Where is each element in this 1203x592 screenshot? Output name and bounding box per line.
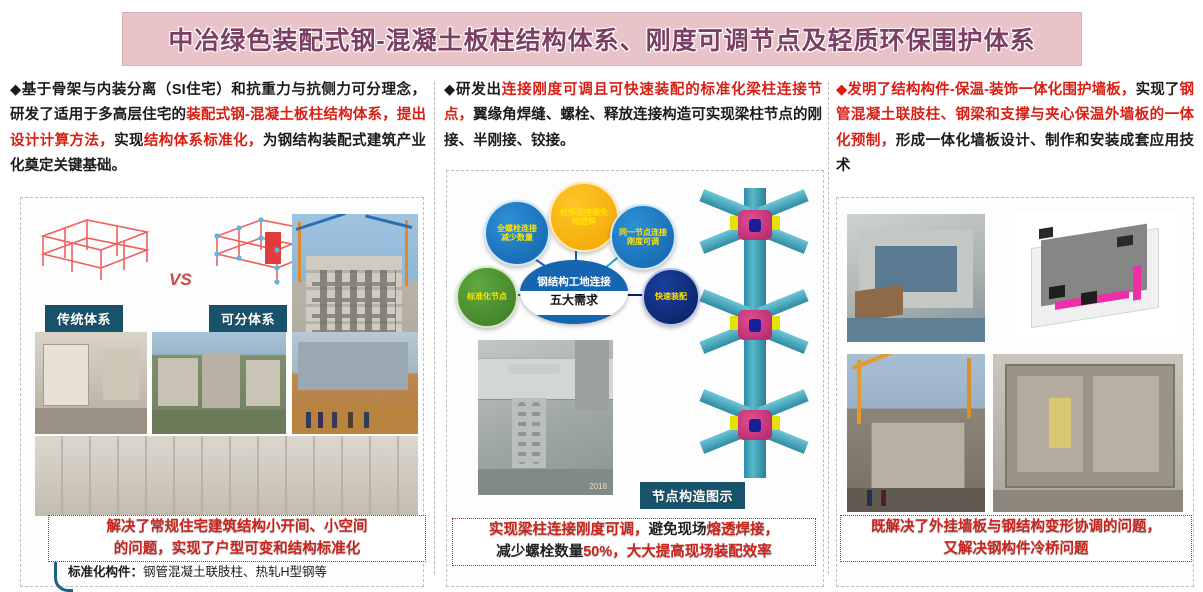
col1-conclusion-line2: 的问题，实现了户型可变和结构标准化 (107, 539, 368, 561)
bubble-line: 减少数量 (501, 233, 533, 242)
column-3: ◆发明了结构构件-保温-装饰一体化围护墙板，实现了钢管混凝土联肢柱、钢梁和支撑与… (832, 78, 1198, 574)
photo-panel-hoisting (847, 354, 985, 512)
col1-conclusion-box: 解决了常规住宅建筑结构小开间、小空间 的问题，实现了户型可变和结构标准化 (48, 515, 426, 562)
col3-seg-0: 发明了结构构件-保温-装饰一体化围护墙板， (847, 82, 1135, 98)
col2-concl-2b: 50%，大大提高现场装配效率 (583, 544, 772, 560)
bubble-line: 刚度可调 (627, 237, 659, 246)
col2-conclusion-text: 实现梁柱连接刚度可调，避免现场熔透焊接， 减少螺栓数量50%，大大提高现场装配效… (489, 520, 779, 564)
bubble-avoid-penetration-weld: 栓焊连接避免 熔透焊 (549, 182, 619, 252)
bubble-diagram: 全螺栓连接 减少数量 栓焊连接避免 熔透焊 同一节点连接 刚度可调 标准化节点 … (452, 182, 702, 342)
col2-concl-1b: 避免现场 (649, 522, 707, 538)
col2-seg-0: 研发出 (456, 82, 502, 98)
system-row-value: 钢管混凝土联肢柱、热轧H型钢等 (143, 565, 327, 579)
bubble-line: 快速装配 (655, 292, 687, 301)
poster-title-banner: 中冶绿色装配式钢-混凝土板柱结构体系、刚度可调节点及轻质环保围护体系 (122, 12, 1082, 66)
col1-conclusion-text: 解决了常规住宅建筑结构小开间、小空间 的问题，实现了户型可变和结构标准化 (107, 517, 368, 561)
col2-bullet-paragraph: ◆研发出连接刚度可调且可快速装配的标准化梁柱连接节点，翼缘角焊缝、螺栓、释放连接… (440, 78, 826, 154)
col3-conclusion-box: 既解决了外挂墙板与钢结构变形协调的问题， 又解决钢构件冷桥问题 (840, 515, 1192, 562)
col3-conclusion-text: 既解决了外挂墙板与钢结构变形协调的问题， 又解决钢构件冷桥问题 (871, 517, 1161, 561)
chip-traditional-system: 传统体系 (45, 305, 123, 332)
col3-conclusion-line2: 又解决钢构件冷桥问题 (871, 539, 1161, 561)
photo-precast-wall-panel (847, 214, 985, 342)
bubble-center-bottom: 五大需求 (520, 291, 628, 315)
photo-wall-test-rig (993, 354, 1183, 512)
node-joint (700, 296, 810, 354)
bubble-fast-assembly: 快速装配 (642, 268, 700, 326)
chip-node-detail-diagram: 节点构造图示 (640, 482, 745, 509)
column-divider-1 (434, 82, 435, 574)
col2-conclusion-line1: 实现梁柱连接刚度可调，避免现场熔透焊接， (489, 520, 779, 542)
col3-bullet-paragraph: ◆发明了结构构件-保温-装饰一体化围护墙板，实现了钢管混凝土联肢柱、钢梁和支撑与… (832, 78, 1198, 180)
page-title: 中冶绿色装配式钢-混凝土板柱结构体系、刚度可调节点及轻质环保围护体系 (168, 21, 1035, 57)
col3-seg-1: 实现 (1136, 82, 1165, 98)
bubble-line: 全螺栓连接 (497, 224, 537, 233)
system-list-row: 标准化构件：钢管混凝土联肢柱、热轧H型钢等 (68, 561, 418, 584)
photo-site-group (292, 332, 418, 434)
bubble-line: 同一节点连接 (619, 228, 667, 237)
photo-precast-yard (152, 332, 286, 434)
photo-steel-beam-connection: 2018 (478, 340, 613, 495)
column-1: ◆基于骨架与内装分离（SI住宅）和抗重力与抗侧力可分理念，研发了适用于多高层住宅… (6, 78, 430, 574)
col1-seg-0: 基于骨架与内装分离（SI住宅）和抗重力与抗侧力可分 (22, 82, 382, 98)
bullet-marker: ◆ (836, 82, 847, 98)
col2-seg-2: 翼缘角焊缝、螺栓、释放连接构造可实现梁柱节点的刚接、半刚接、铰接。 (444, 107, 822, 148)
col2-conclusion-box: 实现梁柱连接刚度可调，避免现场熔透焊接， 减少螺栓数量50%，大大提高现场装配效… (452, 518, 816, 566)
system-row-key: 标准化构件： (68, 565, 143, 579)
col2-concl-2a: 减少螺栓数量 (496, 544, 583, 560)
bubble-standardized-joint: 标准化节点 (456, 266, 518, 328)
bubble-center-core: 钢结构工地连接 五大需求 (520, 260, 628, 324)
col2-concl-1c: 熔透焊接， (707, 522, 780, 538)
bubble-line: 熔透焊 (572, 217, 596, 226)
col1-conclusion-line1: 解决了常规住宅建筑结构小开间、小空间 (107, 517, 368, 539)
chip-separable-system: 可分体系 (209, 305, 287, 332)
bubble-adjustable-stiffness: 同一节点连接 刚度可调 (610, 204, 676, 270)
vs-label: VS (169, 270, 192, 290)
bubble-all-bolt-connection: 全螺栓连接 减少数量 (484, 200, 550, 266)
column-divider-2 (828, 82, 829, 574)
col1-bullet-paragraph: ◆基于骨架与内装分离（SI住宅）和抗重力与抗侧力可分理念，研发了适用于多高层住宅… (6, 78, 430, 180)
bubble-center-top: 钢结构工地连接 (520, 269, 628, 291)
col2-conclusion-line2: 减少螺栓数量50%，大大提高现场装配效率 (489, 542, 779, 564)
bullet-marker: ◆ (444, 82, 456, 98)
col3-seg-2: 了 (1165, 82, 1180, 98)
bubble-line: 标准化节点 (467, 292, 507, 301)
photo-date-stamp: 2018 (589, 482, 607, 491)
col1-seg-3: 实现 (114, 133, 144, 149)
node-joint (700, 396, 810, 454)
render-integrated-wall-panel (1009, 212, 1177, 342)
traditional-frame-diagram (35, 208, 155, 293)
bullet-marker: ◆ (10, 82, 22, 98)
col1-seg-4: 结构体系标准化， (144, 133, 263, 149)
photo-interior-room (35, 332, 147, 434)
col2-concl-1a: 实现梁柱连接刚度可调， (489, 522, 649, 538)
bubble-line: 栓焊连接避免 (560, 208, 608, 217)
photo-floor-slab (35, 436, 418, 516)
col3-conclusion-line1: 既解决了外挂墙板与钢结构变形协调的问题， (871, 517, 1161, 539)
node-joint (700, 196, 810, 254)
